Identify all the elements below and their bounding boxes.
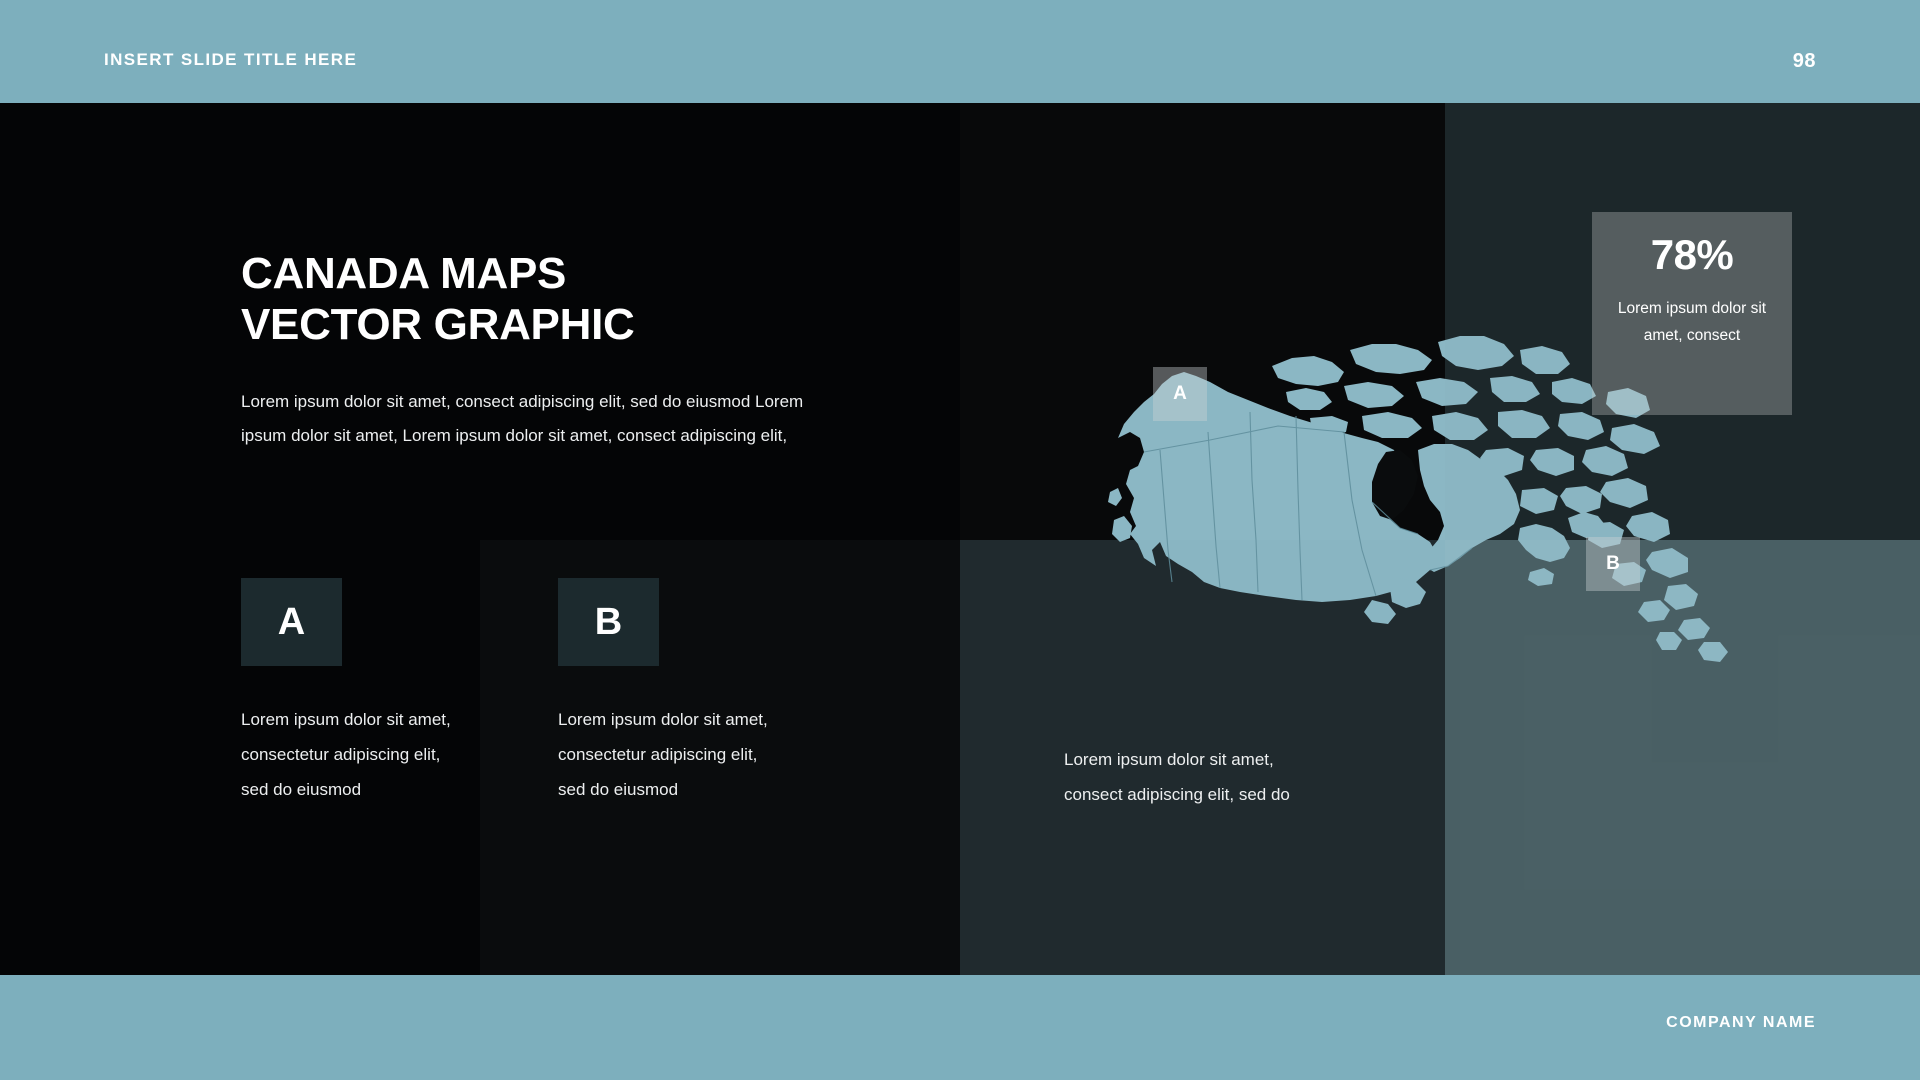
header-page-number: 98 [1793, 50, 1816, 73]
item-badge-b-label: B [595, 601, 622, 644]
stat-card: 78% Lorem ipsum dolor sit amet, consect [1592, 212, 1792, 415]
map-marker-a-label: A [1173, 383, 1187, 405]
page-title-line2: VECTOR GRAPHIC [241, 299, 801, 350]
item-badge-a-label: A [278, 601, 305, 644]
map-marker-b-label: B [1606, 553, 1620, 575]
stat-card-value: 78% [1592, 234, 1792, 276]
header-title: INSERT SLIDE TITLE HERE [104, 50, 357, 70]
stat-card-description: Lorem ipsum dolor sit amet, consect [1592, 295, 1792, 349]
slide: A B 78% Lorem ipsum dolor sit amet, cons… [0, 0, 1920, 1080]
footer-company-name: COMPANY NAME [1666, 1014, 1816, 1032]
page-title: CANADA MAPS VECTOR GRAPHIC [241, 248, 801, 351]
page-title-line1: CANADA MAPS [241, 248, 801, 299]
item-card-a: A Lorem ipsum dolor sit amet, consectetu… [241, 578, 466, 808]
item-text-b: Lorem ipsum dolor sit amet, consectetur … [558, 702, 783, 808]
item-badge-a: A [241, 578, 342, 666]
slide-footer: COMPANY NAME [0, 975, 1920, 1080]
slide-header: INSERT SLIDE TITLE HERE 98 [0, 0, 1920, 103]
map-marker-b[interactable]: B [1586, 537, 1640, 591]
middle-paragraph: Lorem ipsum dolor sit amet, consect adip… [1064, 742, 1324, 812]
item-card-b: B Lorem ipsum dolor sit amet, consectetu… [558, 578, 783, 808]
item-badge-b: B [558, 578, 659, 666]
map-marker-a[interactable]: A [1153, 367, 1207, 421]
item-text-a: Lorem ipsum dolor sit amet, consectetur … [241, 702, 466, 808]
intro-paragraph: Lorem ipsum dolor sit amet, consect adip… [241, 385, 806, 453]
